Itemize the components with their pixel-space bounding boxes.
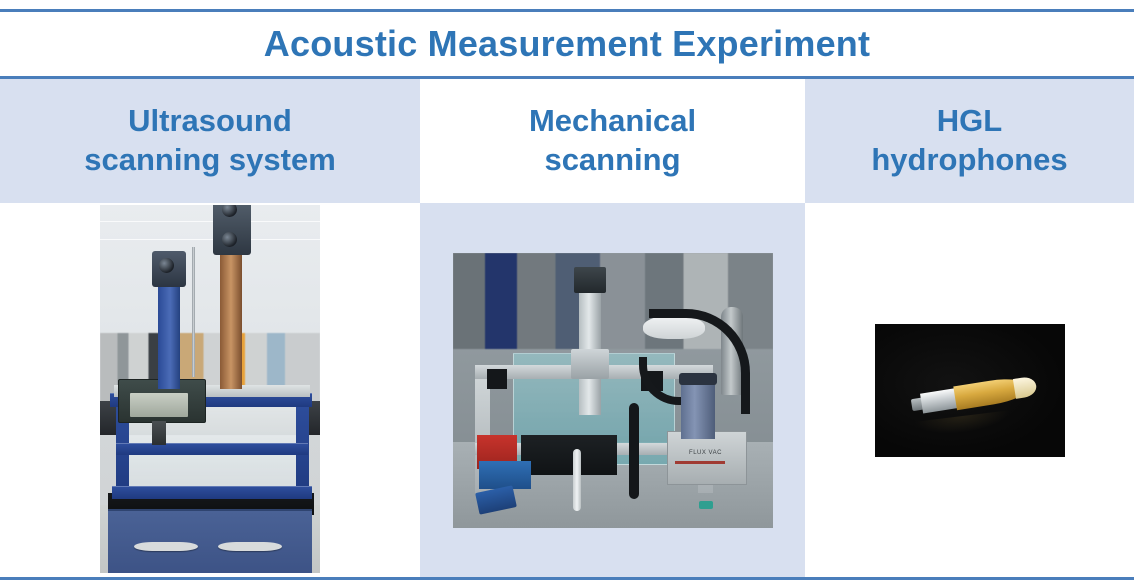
column-body-mechanical: FLUX VAC [420,203,805,577]
column-body-row: FLUX VAC [0,203,1134,577]
column-header-mechanical-label: Mechanical scanning [529,102,696,180]
column-header-ultrasound-label: Ultrasound scanning system [84,102,336,180]
title-band: Acoustic Measurement Experiment [0,12,1134,76]
column-header-hgl[interactable]: HGL hydrophones [805,79,1134,203]
ultrasound-scanning-system-photo [100,205,320,573]
hgl-hydrophone-photo [875,324,1065,457]
column-header-ultrasound-line2: scanning system [84,142,336,177]
column-header-ultrasound-line1: Ultrasound [128,103,292,138]
mechanical-scanning-photo: FLUX VAC [453,253,773,528]
column-header-row: Ultrasound scanning system Mechanical sc… [0,79,1134,203]
slide: Acoustic Measurement Experiment Ultrasou… [0,0,1134,586]
column-header-mechanical-line2: scanning [544,142,680,177]
column-header-hgl-line1: HGL [937,103,1002,138]
column-header-ultrasound[interactable]: Ultrasound scanning system [0,79,420,203]
column-header-hgl-line2: hydrophones [871,142,1067,177]
column-header-mechanical[interactable]: Mechanical scanning [420,79,805,203]
column-body-ultrasound [0,203,420,577]
flux-vac-label: FLUX VAC [675,449,737,458]
bottom-rule [0,577,1134,580]
page-title: Acoustic Measurement Experiment [264,23,870,65]
column-header-mechanical-line1: Mechanical [529,103,696,138]
column-header-hgl-label: HGL hydrophones [871,102,1067,180]
column-body-hgl [805,203,1134,577]
